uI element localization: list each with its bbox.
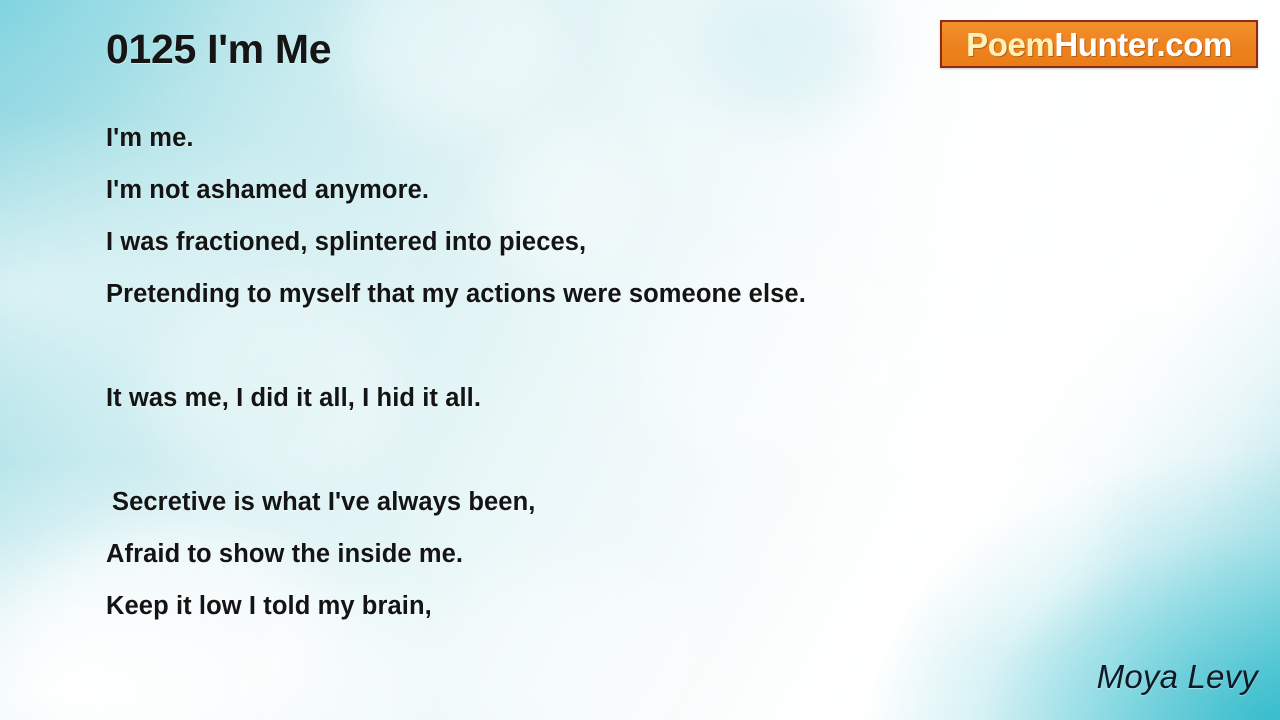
poem-image-canvas: PoemHunter.com 0125 I'm Me I'm me. I'm n… bbox=[0, 0, 1280, 720]
bokeh-circle bbox=[700, 0, 870, 120]
poemhunter-logo[interactable]: PoemHunter.com bbox=[940, 20, 1258, 68]
poem-line: It was me, I did it all, I hid it all. bbox=[106, 372, 1226, 424]
poem-stanza: Secretive is what I've always been, Afra… bbox=[106, 476, 1226, 632]
poem-line: Secretive is what I've always been, bbox=[106, 476, 1226, 528]
poem-line: Pretending to myself that my actions wer… bbox=[106, 268, 1226, 320]
poem-line: I'm not ashamed anymore. bbox=[106, 164, 1226, 216]
poem-stanza: It was me, I did it all, I hid it all. bbox=[106, 372, 1226, 424]
poem-stanza: I'm me. I'm not ashamed anymore. I was f… bbox=[106, 112, 1226, 320]
poem-author: Moya Levy bbox=[1097, 658, 1258, 696]
poem-title: 0125 I'm Me bbox=[106, 27, 331, 72]
logo-text-hunter: Hunter.com bbox=[1054, 28, 1232, 61]
poem-body: I'm me. I'm not ashamed anymore. I was f… bbox=[106, 112, 1226, 632]
logo-text-poem: Poem bbox=[966, 28, 1054, 61]
poem-line: Afraid to show the inside me. bbox=[106, 528, 1226, 580]
poem-line: Keep it low I told my brain, bbox=[106, 580, 1226, 632]
poem-line: I'm me. bbox=[106, 112, 1226, 164]
poem-line: I was fractioned, splintered into pieces… bbox=[106, 216, 1226, 268]
